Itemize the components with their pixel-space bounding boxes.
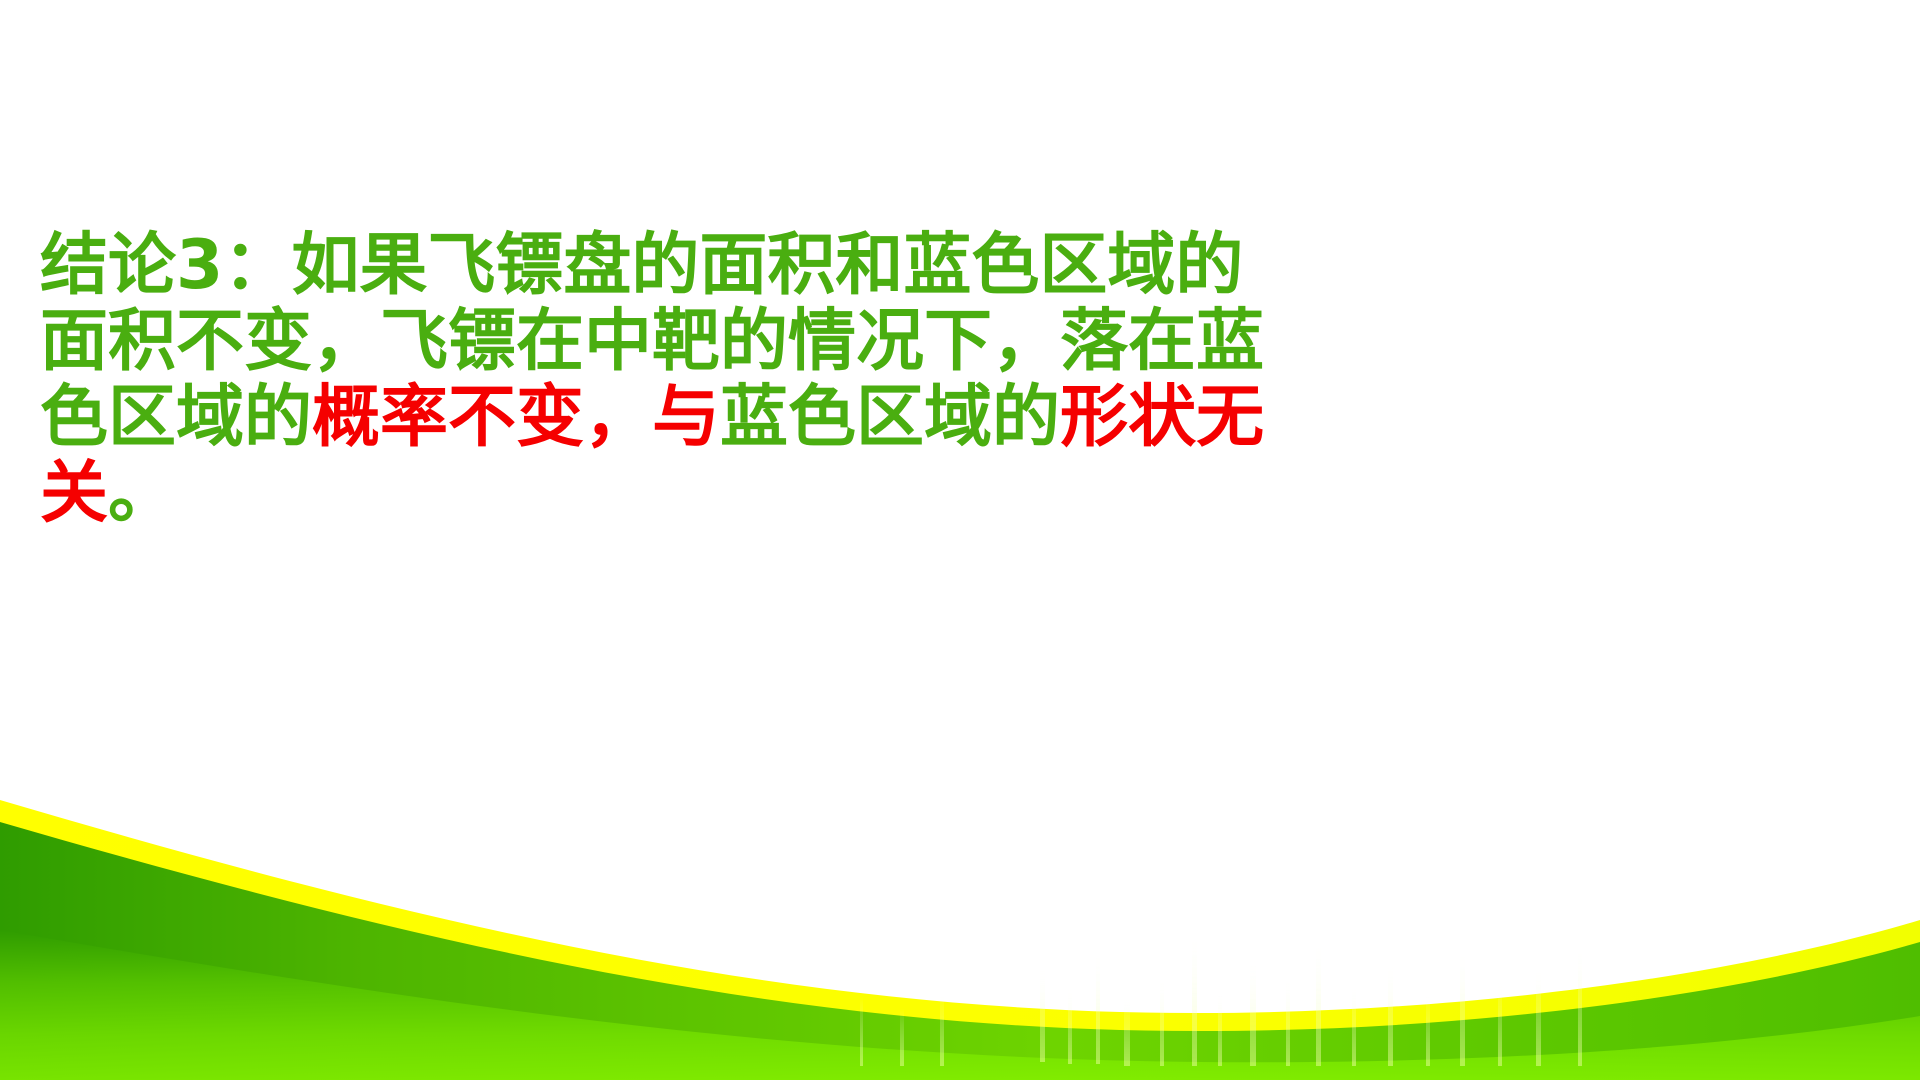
text-run-green: 结论3：如果飞镖盘的面积和蓝色区域的 [40,226,1243,305]
text-run-red-emphasis: 形状无 [1060,378,1264,457]
text-run-green: 。 [108,454,176,533]
text-run-red-emphasis: 与 [652,378,720,457]
body-line-3: 色区域的概率不变，与蓝色区域的形状无 [40,380,1850,456]
text-run-green: 蓝色区域的 [720,378,1060,457]
body-line-1: 结论3：如果飞镖盘的面积和蓝色区域的 [40,228,1850,304]
bottom-wave-decoration [0,780,1920,1080]
slide-canvas: 结论3：如果飞镖盘的面积和蓝色区域的 面积不变，飞镖在中靶的情况下，落在蓝 色区… [0,0,1920,1080]
text-run-green: 色区域的 [40,378,312,457]
decor-green-highlight [0,930,1920,1080]
decor-green-band [0,822,1920,1080]
text-run-red-emphasis: 概率不变， [312,378,652,457]
body-line-4: 关。 [40,456,1850,532]
text-run-green: 面积不变，飞镖在中靶的情况下，落在蓝 [40,302,1264,381]
slide-body-text: 结论3：如果飞镖盘的面积和蓝色区域的 面积不变，飞镖在中靶的情况下，落在蓝 色区… [40,228,1850,532]
decor-yellow-band [0,800,1920,1080]
text-run-red-emphasis: 关 [40,454,108,533]
decor-grass-blades [860,930,1582,1066]
body-line-2: 面积不变，飞镖在中靶的情况下，落在蓝 [40,304,1850,380]
